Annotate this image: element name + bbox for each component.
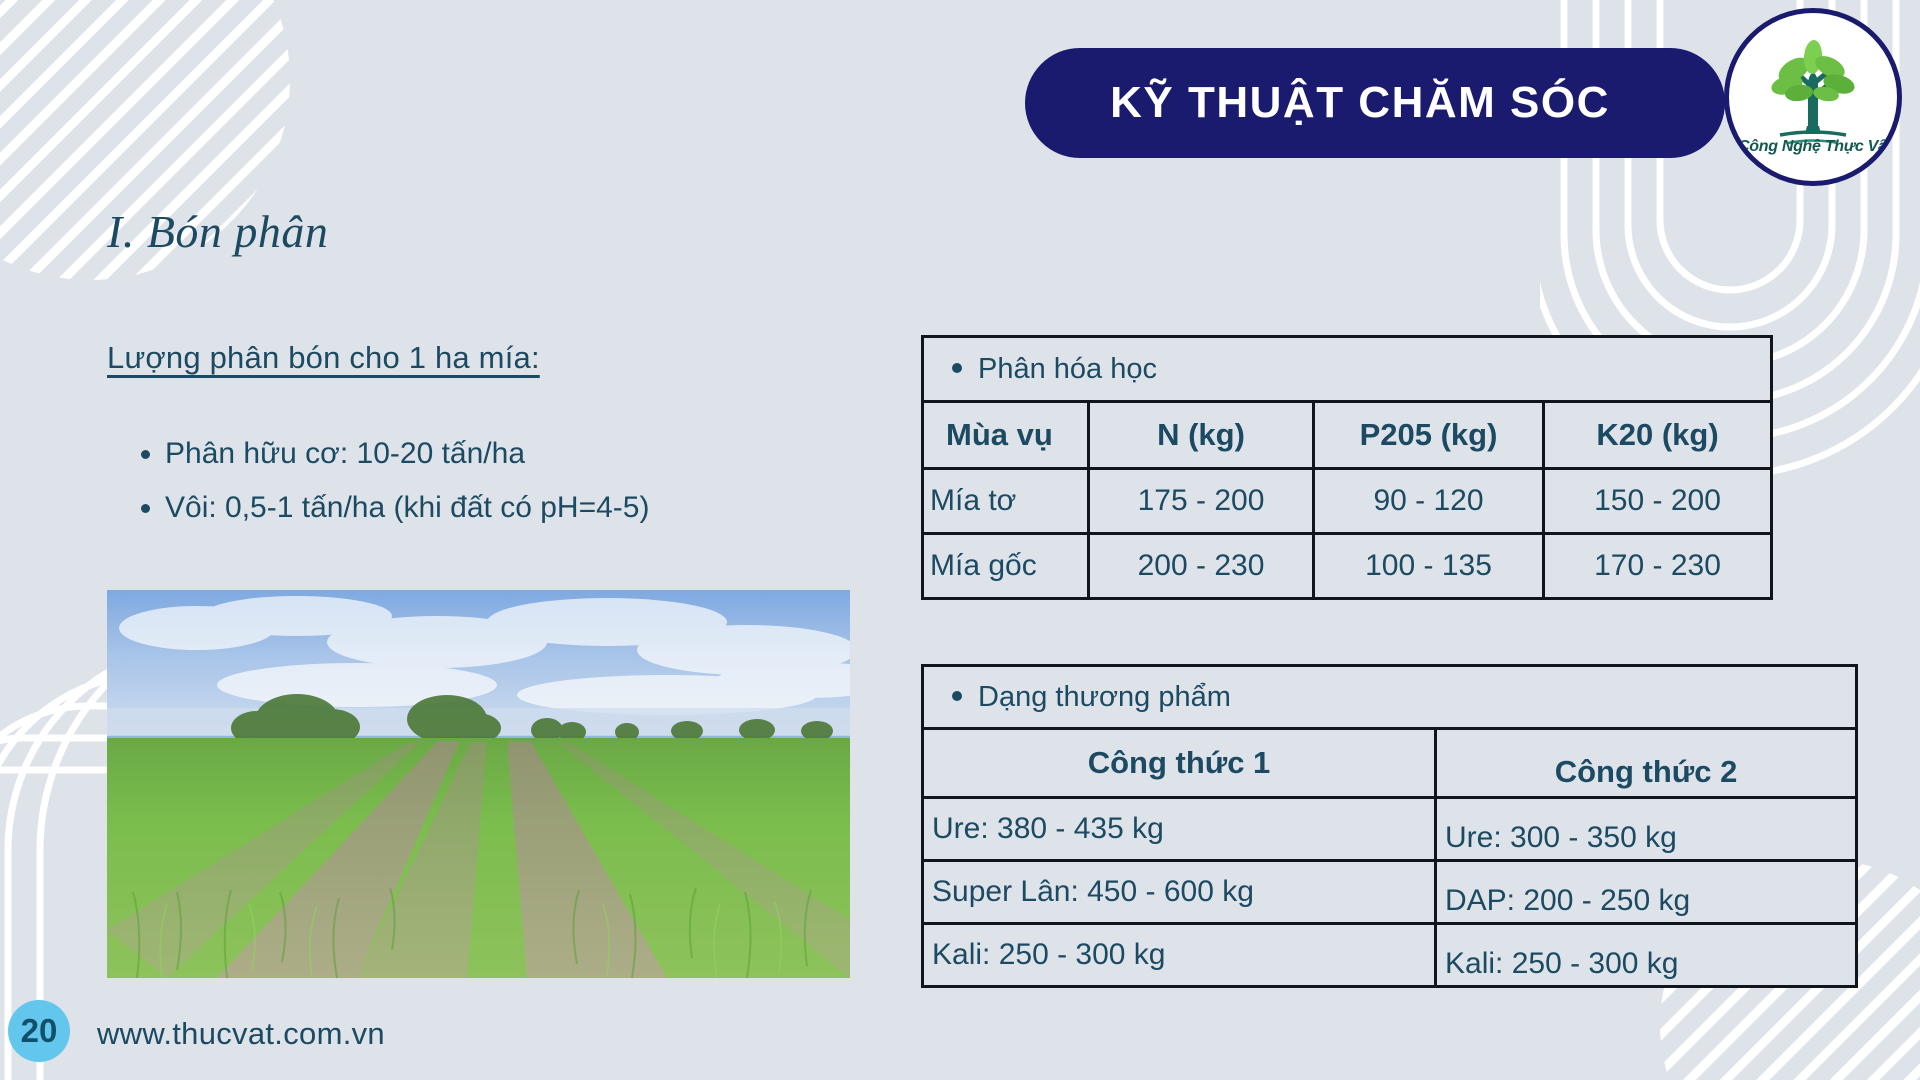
list-item: Vôi: 0,5-1 tấn/ha (khi đất có pH=4-5) [165, 484, 885, 532]
cell-value-text: Ure: 300 - 350 kg [1445, 821, 1855, 855]
cell-value-text: DAP: 200 - 250 kg [1445, 884, 1855, 918]
company-logo: Công Nghệ Thực Vật [1724, 8, 1902, 186]
table-row: Kali: 250 - 300 kg Kali: 250 - 300 kg [923, 924, 1857, 987]
section-heading: I. Bón phân [107, 205, 328, 258]
table-caption-row: Phân hóa học [923, 337, 1772, 402]
column-header: Công thức 2 [1436, 729, 1857, 798]
row-label: Mía gốc [923, 534, 1089, 599]
cell-value: DAP: 200 - 250 kg [1436, 861, 1857, 924]
column-header: Mùa vụ [923, 402, 1089, 469]
cell-value: Ure: 300 - 350 kg [1436, 798, 1857, 861]
bullet-dot-icon [952, 363, 962, 373]
fertilizer-bullet-list: Phân hữu cơ: 10-20 tấn/ha Vôi: 0,5-1 tấn… [135, 430, 885, 538]
cell-value: 170 - 230 [1544, 534, 1772, 599]
table-header-row: Công thức 1 Công thức 2 [923, 729, 1857, 798]
table-row: Ure: 380 - 435 kg Ure: 300 - 350 kg [923, 798, 1857, 861]
table-row: Super Lân: 450 - 600 kg DAP: 200 - 250 k… [923, 861, 1857, 924]
cell-value: Ure: 380 - 435 kg [923, 798, 1436, 861]
caption-text: Phân hóa học [978, 353, 1157, 385]
footer-website-url: www.thucvat.com.vn [97, 1016, 385, 1052]
page-number-badge: 20 [8, 1000, 70, 1062]
table-caption-cell: Phân hóa học [923, 337, 1772, 402]
cell-value: 100 - 135 [1314, 534, 1544, 599]
caption-text: Dạng thương phẩm [978, 681, 1231, 713]
cell-value: 200 - 230 [1089, 534, 1314, 599]
column-header: P205 (kg) [1314, 402, 1544, 469]
cell-value: Kali: 250 - 300 kg [1436, 924, 1857, 987]
row-label: Mía tơ [923, 469, 1089, 534]
slide-title-banner: KỸ THUẬT CHĂM SÓC [1025, 48, 1725, 158]
subheading-label: Lượng phân bón cho 1 ha mía: [107, 340, 540, 376]
bullet-dot-icon [952, 691, 962, 701]
column-header: Công thức 1 [923, 729, 1436, 798]
column-header: N (kg) [1089, 402, 1314, 469]
table-caption-cell: Dạng thương phẩm [923, 666, 1857, 729]
logo-inner: Công Nghệ Thực Vật [1738, 22, 1888, 172]
list-item: Phân hữu cơ: 10-20 tấn/ha [165, 430, 885, 478]
commercial-form-table: Dạng thương phẩm Công thức 1 Công thức 2… [921, 664, 1858, 988]
cell-value: Super Lân: 450 - 600 kg [923, 861, 1436, 924]
table-row: Mía gốc 200 - 230 100 - 135 170 - 230 [923, 534, 1772, 599]
column-header: K20 (kg) [1544, 402, 1772, 469]
cell-value: Kali: 250 - 300 kg [923, 924, 1436, 987]
table-row: Mía tơ 175 - 200 90 - 120 150 - 200 [923, 469, 1772, 534]
table-caption-row: Dạng thương phẩm [923, 666, 1857, 729]
page-title: KỸ THUẬT CHĂM SÓC [1110, 78, 1640, 128]
slide-canvas: KỸ THUẬT CHĂM SÓC [0, 0, 1920, 1080]
cell-value: 90 - 120 [1314, 469, 1544, 534]
table-header-row: Mùa vụ N (kg) P205 (kg) K20 (kg) [923, 402, 1772, 469]
cell-value-text: Kali: 250 - 300 kg [1445, 947, 1855, 981]
cell-value: 175 - 200 [1089, 469, 1314, 534]
column-header-text: Công thức 2 [1437, 754, 1855, 790]
cell-value: 150 - 200 [1544, 469, 1772, 534]
sugarcane-field-photo [107, 590, 850, 978]
chemical-fertilizer-table: Phân hóa học Mùa vụ N (kg) P205 (kg) K20… [921, 335, 1773, 600]
logo-caption: Công Nghệ Thực Vật [1738, 138, 1888, 156]
